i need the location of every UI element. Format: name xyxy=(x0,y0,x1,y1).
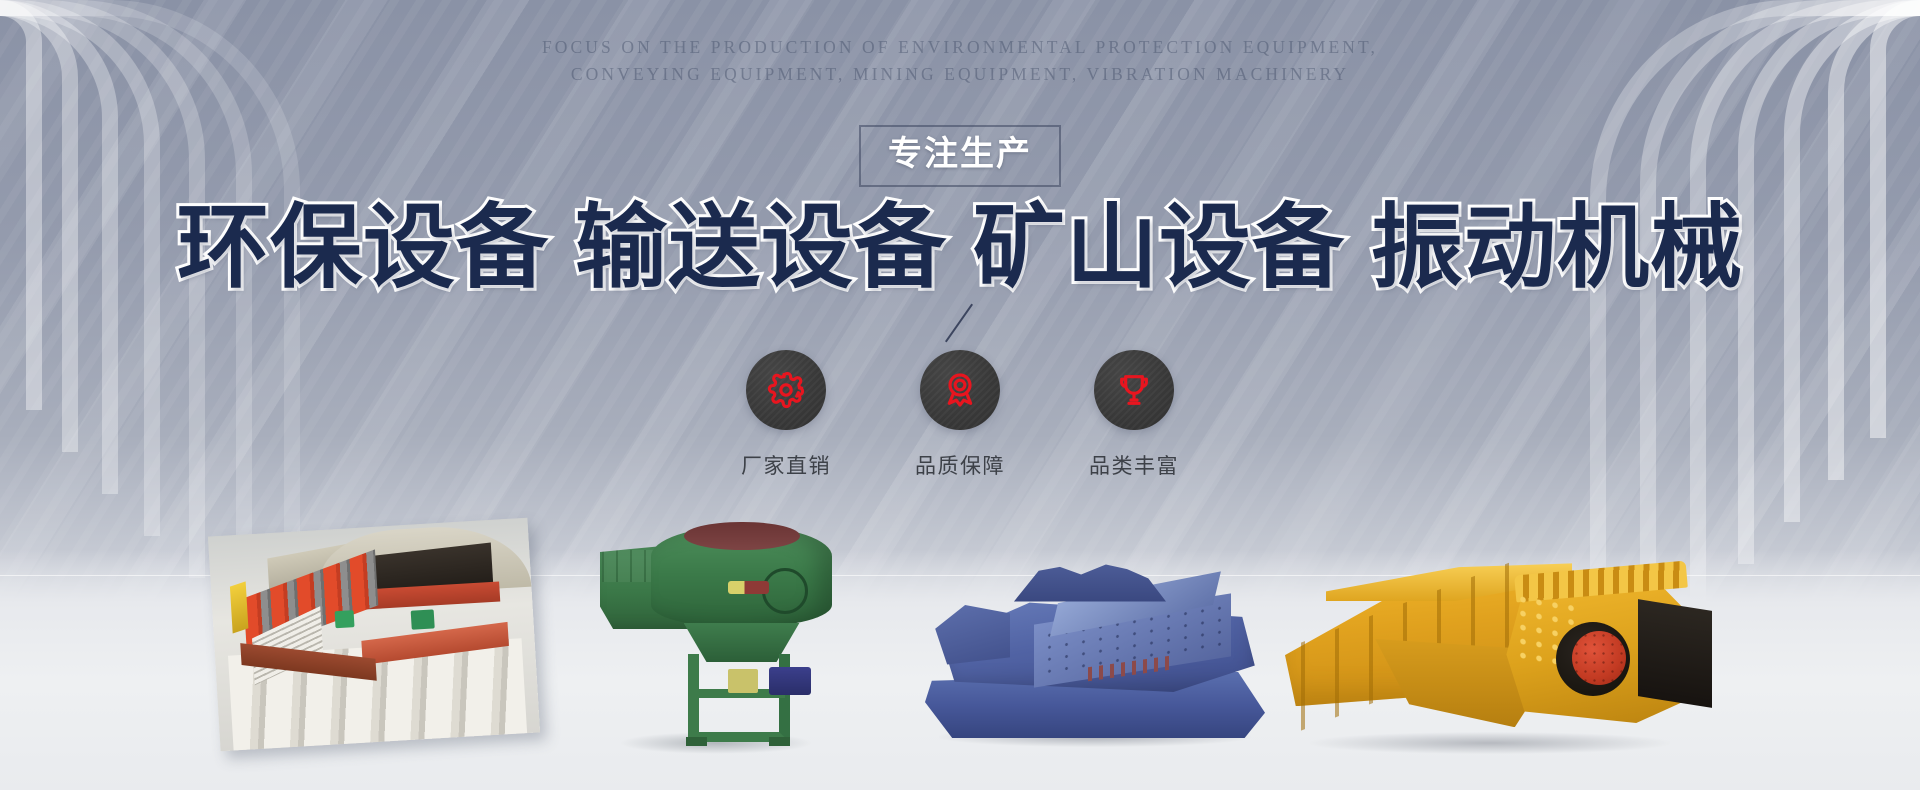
m2-valve-handle xyxy=(728,581,770,594)
slash-decoration xyxy=(945,304,973,343)
m2-handwheel xyxy=(762,568,808,614)
tagline-line-1: FOCUS ON THE PRODUCTION OF ENVIRONMENTAL… xyxy=(542,37,1378,57)
gear-icon xyxy=(766,370,806,410)
badge-container: 专注生产 xyxy=(0,125,1920,187)
m4-ground-shadow xyxy=(1310,732,1671,754)
m3-feed-head xyxy=(935,605,1010,665)
m1-green-motor-left xyxy=(334,610,354,628)
m4-red-rotor-disc xyxy=(1572,631,1626,685)
m1-green-motor-right xyxy=(411,609,434,630)
page-title: 环保设备输送设备矿山设备振动机械 xyxy=(0,194,1920,303)
headline-part-2: 输送设备 xyxy=(575,197,947,299)
trophy-icon xyxy=(1114,370,1154,410)
machine-image-blue-vibrating-screen xyxy=(925,563,1265,738)
gear-icon-circle xyxy=(746,350,826,430)
medal-icon-circle xyxy=(920,350,1000,430)
headline-part-1: 环保设备 xyxy=(177,197,549,299)
m3-exciter-arms xyxy=(1000,563,1177,602)
hero-banner: FOCUS ON THE PRODUCTION OF ENVIRONMENTAL… xyxy=(0,0,1920,790)
m2-drive-motor xyxy=(769,667,811,696)
tagline-line-2: CONVEYING EQUIPMENT, MINING EQUIPMENT, V… xyxy=(571,64,1349,84)
headline-part-4: 振动机械 xyxy=(1371,197,1743,299)
m2-base-foot-right xyxy=(769,737,790,746)
machine-image-conveyor-screening-plant xyxy=(208,518,540,752)
trophy-icon-circle xyxy=(1094,350,1174,430)
headline-part-3: 矿山设备 xyxy=(973,197,1345,299)
machine-showcase xyxy=(0,430,1920,790)
m2-drum-opening xyxy=(684,522,800,551)
focus-production-badge: 专注生产 xyxy=(859,125,1061,187)
machine-image-green-hopper-feeder xyxy=(600,526,832,746)
m1-yellow-guard xyxy=(230,582,249,634)
m4-dark-rear-section xyxy=(1638,600,1712,708)
english-tagline: FOCUS ON THE PRODUCTION OF ENVIRONMENTAL… xyxy=(0,34,1920,88)
m2-gearbox xyxy=(728,669,758,693)
machine-image-yellow-vibrating-feeder xyxy=(1285,534,1695,744)
medal-icon xyxy=(940,370,980,410)
m2-base-foot-left xyxy=(686,737,707,746)
